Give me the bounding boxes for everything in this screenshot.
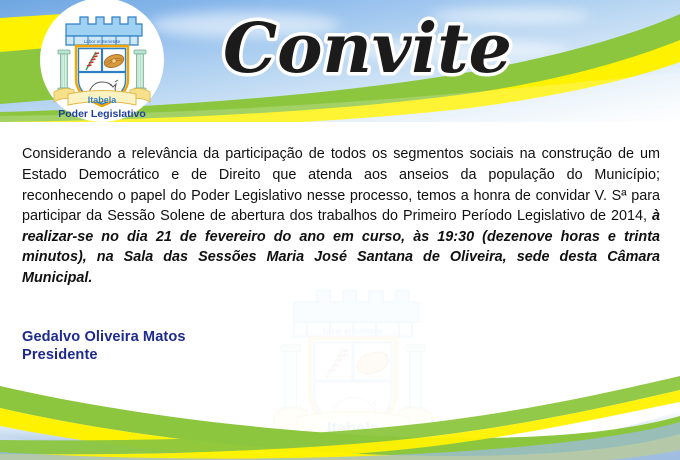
- crown-motto-text: Labor et Serietate: [84, 39, 121, 44]
- signatory-role: Presidente: [22, 346, 186, 364]
- logo-municipality-text: Itabela: [88, 95, 118, 105]
- invitation-document: Labor et Serietate: [0, 0, 680, 460]
- document-header: Labor et Serietate: [0, 0, 680, 122]
- document-body: Labor et Serietate Itabela Poder Legisla: [0, 122, 680, 404]
- coat-of-arms-logo: Labor et Serietate: [38, 6, 166, 122]
- page-title-text: Convite: [223, 9, 512, 89]
- page-title: Convite Convite: [215, 8, 545, 100]
- logo-branch-text: Poder Legislativo: [58, 108, 146, 120]
- mural-crown-icon: Labor et Serietate: [66, 17, 142, 45]
- scroll-banner-icon: Itabela: [54, 88, 150, 105]
- watermark-motto-text: Labor et Serietate: [323, 326, 383, 335]
- document-footer: [0, 364, 680, 460]
- signatory-name: Gedalvo Oliveira Matos: [22, 328, 186, 346]
- invitation-paragraph: Considerando a relevância da participaçã…: [22, 144, 660, 288]
- column-left-icon: [58, 50, 70, 92]
- footer-wave-bands: [0, 364, 680, 460]
- signature-block: Gedalvo Oliveira Matos Presidente: [22, 328, 186, 365]
- invitation-paragraph-plain: Considerando a relevância da participaçã…: [22, 146, 660, 224]
- column-right-icon: [134, 50, 146, 92]
- coat-of-arms-icon: Labor et Serietate: [38, 6, 166, 122]
